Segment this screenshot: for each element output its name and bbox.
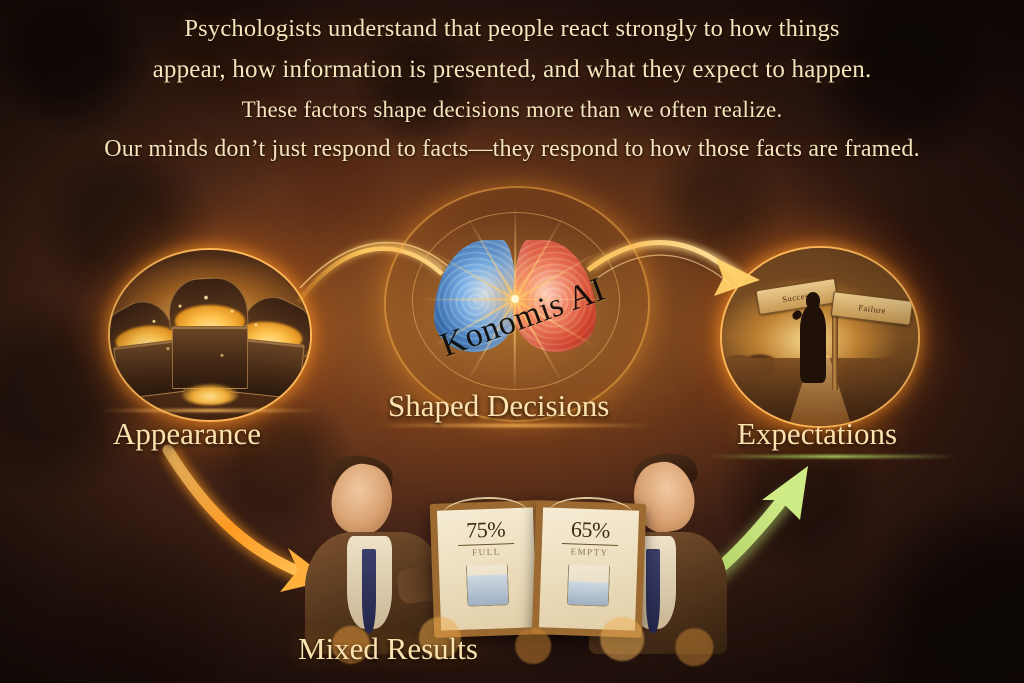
placard-rule [458, 543, 514, 546]
glass-illustration [567, 564, 610, 606]
glass-illustration [466, 564, 509, 606]
placard-percent-value: 75% [466, 518, 506, 541]
label-mixed-results: Mixed Results [298, 631, 478, 667]
placard-percent-value: 65% [571, 518, 611, 541]
header-line-4: Our minds don’t just respond to facts—th… [0, 135, 1024, 164]
scene-mixed-results[interactable]: 75% FULL 65% EMPTY [300, 424, 724, 654]
header-text-block: Psychologists understand that people rea… [0, 14, 1024, 176]
placard-sub-label: EMPTY [570, 546, 608, 557]
label-underglow-expectations [708, 455, 958, 458]
label-expectations: Expectations [737, 416, 897, 452]
label-appearance: Appearance [113, 416, 261, 452]
header-line-2: appear, how information is presented, an… [0, 55, 1024, 86]
header-line-3: These factors shape decisions more than … [0, 96, 1024, 124]
placard-sub-label: FULL [472, 547, 501, 558]
label-shaped-decisions: Shaped Decisions [388, 388, 609, 424]
label-underglow-appearance [100, 409, 320, 412]
infographic-canvas: Psychologists understand that people rea… [0, 0, 1024, 683]
label-underglow-shaped [374, 424, 654, 427]
glass-fill-level [568, 581, 609, 606]
header-line-1: Psychologists understand that people rea… [0, 14, 1024, 44]
glass-fill-level [467, 574, 508, 605]
